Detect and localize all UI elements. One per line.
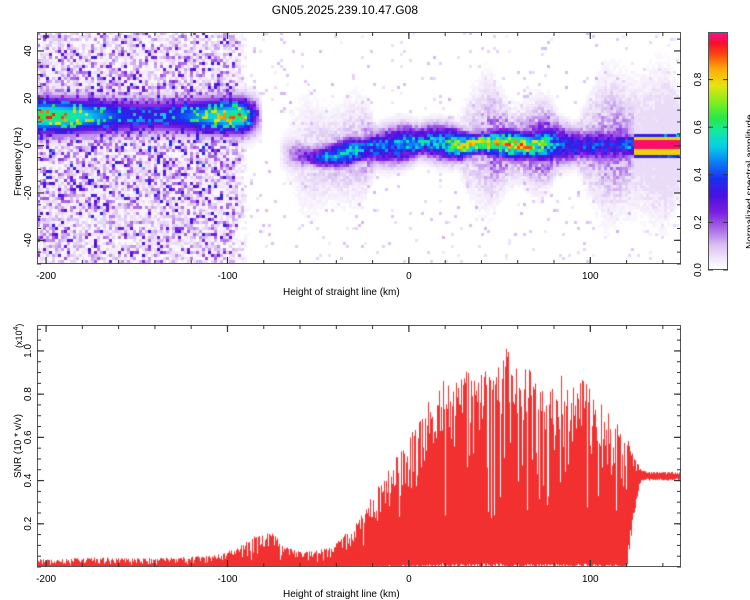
ytick-label: 0.2 <box>23 516 34 530</box>
ytick-label: 0.8 <box>23 387 34 401</box>
spectrogram-image <box>37 32 681 264</box>
xtick-label: -200 <box>36 574 56 585</box>
figure-title: GN05.2025.239.10.47.G08 <box>0 3 690 17</box>
ytick-label: 0.4 <box>23 473 34 487</box>
colorbar-gradient <box>708 32 728 270</box>
snr-ylabel: SNR (10 * v/v) <box>13 414 24 478</box>
spectrogram-panel <box>37 32 681 264</box>
ytick-label: -40 <box>23 233 34 248</box>
ytick-label: -20 <box>23 185 34 200</box>
ytick-label: 1.0 <box>23 344 34 358</box>
snr-yscale-close: ) <box>14 324 24 327</box>
xtick-label: -200 <box>36 271 56 282</box>
ytick-label: 40 <box>23 45 34 57</box>
colorbar-tick-label: 0.6 <box>693 120 704 134</box>
xtick-label: 100 <box>582 271 599 282</box>
xtick-label: 0 <box>406 271 412 282</box>
colorbar-tick-label: 0.0 <box>693 263 704 277</box>
xtick-label: -100 <box>217 271 237 282</box>
ytick-label: 0.6 <box>23 430 34 444</box>
xtick-label: -100 <box>217 574 237 585</box>
ytick-label: 0 <box>23 142 34 148</box>
snr-yscale-text: (x10 <box>14 330 24 348</box>
snr-yscale-exponent: 4 <box>13 327 20 331</box>
snr-trace <box>37 325 681 567</box>
colorbar-label: Normalized spectral amplitude <box>745 114 750 249</box>
snr-panel <box>37 325 681 567</box>
figure-root: GN05.2025.239.10.47.G08 -200-1000100-40-… <box>0 0 750 600</box>
spectrogram-ylabel: Frequency (Hz) <box>13 127 24 196</box>
snr-yscale-note: (x104) <box>13 324 24 348</box>
colorbar-tick-label: 0.8 <box>693 72 704 86</box>
spectrogram-xlabel: Height of straight line (km) <box>283 287 400 298</box>
xtick-label: 0 <box>406 574 412 585</box>
ytick-label: 20 <box>23 92 34 104</box>
colorbar-tick-label: 0.4 <box>693 167 704 181</box>
colorbar <box>708 32 728 270</box>
colorbar-tick-label: 0.2 <box>693 215 704 229</box>
snr-xlabel: Height of straight line (km) <box>283 589 400 600</box>
xtick-label: 100 <box>582 574 599 585</box>
